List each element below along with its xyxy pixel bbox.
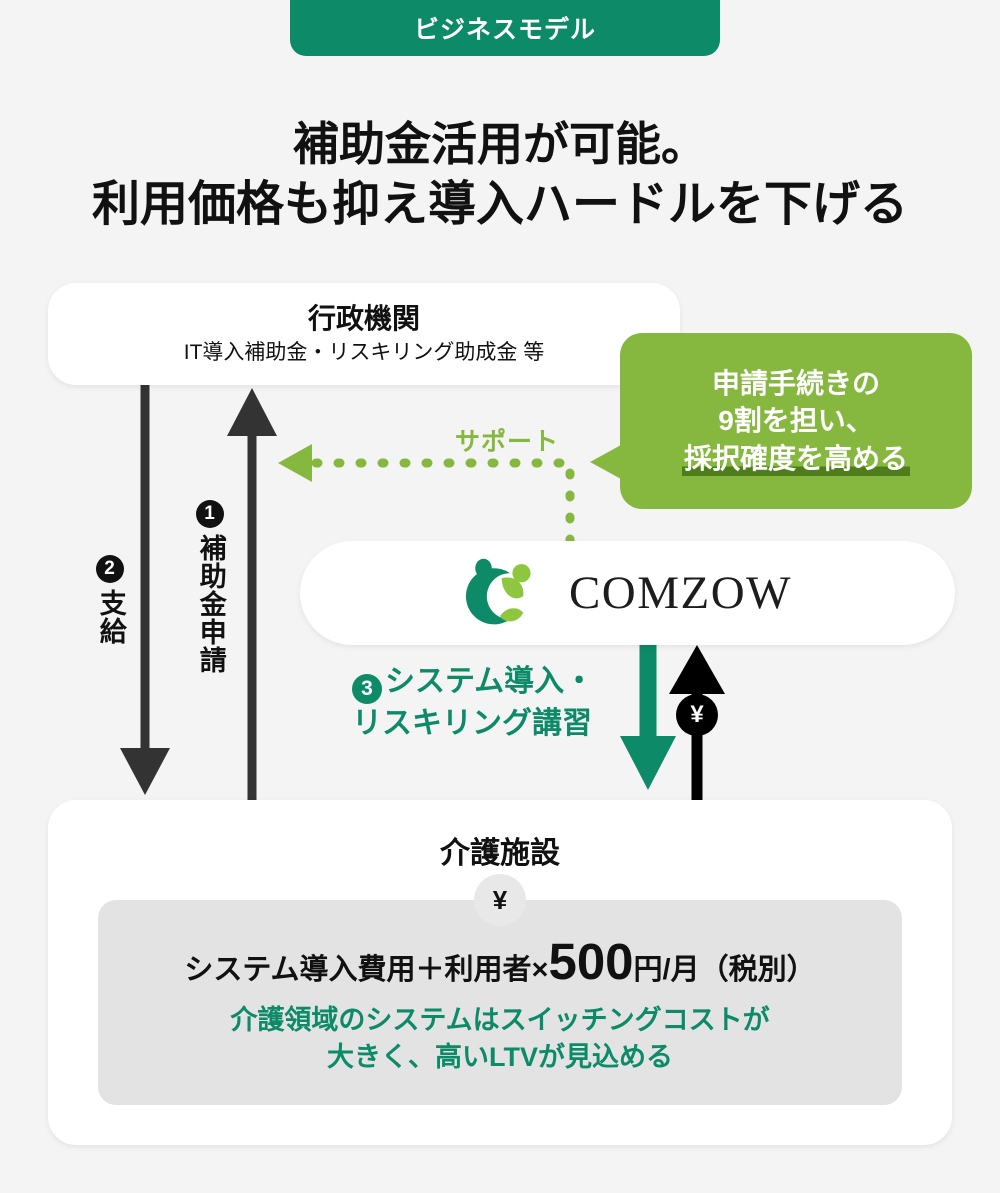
flow-arrow-system-implementation — [620, 645, 676, 790]
business-model-infographic: ビジネスモデル 補助金活用が可能。 利用価格も抑え導入ハードルを下げる — [0, 0, 1000, 1193]
flow-number-1: 1 — [196, 500, 224, 528]
flow-arrow-support — [278, 444, 570, 541]
government-agency-box: 行政機関 IT導入補助金・リスキリング助成金 等 — [48, 283, 680, 385]
price-prefix: システム導入費用＋利用者× — [184, 946, 548, 988]
pricing-note: 介護領域のシステムはスイッチングコストが 大きく、高いLTVが見込める — [230, 1002, 769, 1075]
flow-arrow-subsidy-application — [227, 388, 277, 800]
flow-label-support: サポート — [455, 422, 559, 458]
pricing-panel: ¥ システム導入費用＋利用者× 500 円/月（税別） 介護領域のシステムはスイ… — [98, 900, 902, 1105]
comzow-logo: COMZOW — [463, 555, 792, 631]
comzow-wordmark: COMZOW — [569, 566, 792, 620]
callout-line3: 採択確度を高める — [682, 440, 910, 478]
flow-label-3-line2: リスキリング講習 — [352, 704, 594, 744]
yen-icon: ¥ — [676, 694, 718, 736]
government-agency-title: 行政機関 — [308, 304, 420, 335]
care-facility-box: 介護施設 ¥ システム導入費用＋利用者× 500 円/月（税別） 介護領域のシス… — [48, 800, 952, 1145]
company-box: COMZOW — [300, 541, 955, 645]
flow-arrow-payout — [120, 385, 170, 795]
comzow-logo-icon — [463, 555, 547, 631]
yen-bubble-icon: ¥ — [474, 874, 526, 926]
callout-line2: 9割を担い、 — [718, 402, 874, 440]
care-facility-title: 介護施設 — [48, 800, 952, 872]
price-amount: 500 — [548, 936, 633, 987]
price-suffix: 円/月（税別） — [634, 946, 816, 988]
flow-label-payout: 2 支給 — [96, 555, 124, 645]
support-callout: 申請手続きの 9割を担い、 採択確度を高める — [620, 333, 972, 509]
flow-label-system-implementation: 3システム導入・ リスキリング講習 — [352, 662, 594, 743]
callout-line1: 申請手続きの — [712, 365, 880, 403]
flow-label-1-text: 補助金申請 — [196, 534, 224, 674]
flow-number-3: 3 — [352, 674, 382, 704]
flow-label-2-text: 支給 — [96, 589, 124, 645]
pricing-note-line2: 大きく、高いLTVが見込める — [230, 1039, 769, 1075]
pricing-line: システム導入費用＋利用者× 500 円/月（税別） — [184, 936, 815, 988]
flow-label-3-line1: システム導入・ — [385, 665, 594, 698]
government-agency-subtitle: IT導入補助金・リスキリング助成金 等 — [184, 341, 545, 364]
flow-number-2: 2 — [96, 555, 124, 583]
pricing-note-line1: 介護領域のシステムはスイッチングコストが — [230, 1002, 769, 1038]
flow-label-subsidy-application: 1 補助金申請 — [196, 500, 224, 674]
callout-tail — [590, 445, 621, 479]
